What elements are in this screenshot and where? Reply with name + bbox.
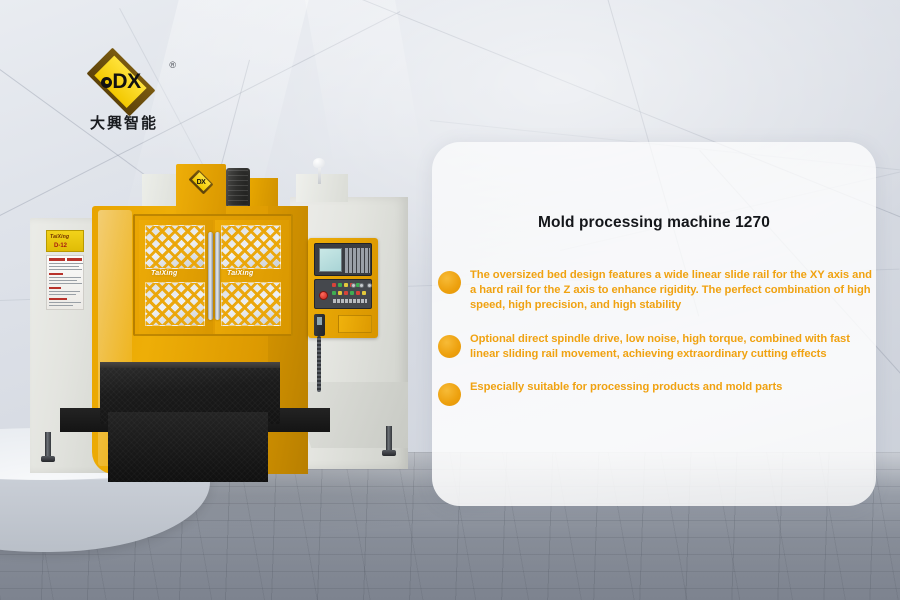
nameplate-model: D-12 bbox=[54, 243, 67, 249]
bullet-dot-icon bbox=[438, 335, 461, 358]
cnc-keypad bbox=[345, 248, 370, 273]
handheld-pendant bbox=[314, 314, 325, 336]
feature-text: The oversized bed design features a wide… bbox=[470, 268, 872, 314]
nameplate-brand: TaiXing bbox=[50, 234, 69, 240]
leveling-foot-right bbox=[386, 426, 392, 452]
tool-changer-drum bbox=[226, 168, 250, 208]
bullet-dot-icon bbox=[438, 383, 461, 406]
feature-list: The oversized bed design features a wide… bbox=[438, 268, 876, 424]
company-name-chinese: 大興智能 bbox=[72, 112, 176, 133]
machine-door-left: TaiXing bbox=[139, 220, 213, 334]
product-info-card: Mold processing machine 1270 The oversiz… bbox=[432, 142, 876, 506]
feature-item: The oversized bed design features a wide… bbox=[438, 268, 876, 314]
machine-logo-letters: DX bbox=[197, 179, 206, 186]
feature-text: Especially suitable for processing produ… bbox=[470, 380, 872, 406]
panel-access-door bbox=[338, 315, 372, 333]
cnc-control-panel bbox=[308, 238, 378, 338]
cnc-screen bbox=[319, 248, 342, 272]
door-handle-left bbox=[208, 232, 213, 320]
machine-instruction-label bbox=[46, 255, 84, 310]
dx-diamond-logo-icon: DX bbox=[78, 56, 164, 108]
logo-letters: DX bbox=[112, 70, 140, 94]
door-brand-right: TaiXing bbox=[227, 270, 253, 277]
emergency-stop-button bbox=[319, 291, 328, 300]
machine-doors: TaiXing TaiXing bbox=[133, 214, 293, 336]
registered-trademark-mark: ® bbox=[169, 60, 176, 70]
status-light-icon bbox=[313, 158, 325, 168]
company-logo: DX ® 大興智能 bbox=[72, 56, 176, 138]
cnc-machine-photo: DX TaiXing TaiXing bbox=[0, 150, 430, 480]
bullet-dot-icon bbox=[438, 271, 461, 294]
machine-dx-logo-icon: DX bbox=[186, 172, 216, 192]
feature-item: Optional direct spindle drive, low noise… bbox=[438, 332, 876, 362]
door-handle-right bbox=[215, 232, 220, 320]
gear-icon bbox=[101, 77, 112, 88]
machine-door-right: TaiXing bbox=[215, 220, 289, 334]
product-banner: DX ® 大興智能 DX bbox=[0, 0, 900, 600]
pendant-cord bbox=[317, 336, 321, 392]
product-title: Mold processing machine 1270 bbox=[432, 214, 876, 232]
machine-nameplate: TaiXing D-12 bbox=[46, 230, 84, 252]
operator-button-panel bbox=[314, 279, 372, 309]
chip-conveyor bbox=[108, 412, 268, 482]
feature-text: Optional direct spindle drive, low noise… bbox=[470, 332, 872, 362]
cnc-display-unit bbox=[314, 243, 372, 276]
feature-item: Especially suitable for processing produ… bbox=[438, 380, 876, 406]
leveling-foot-left bbox=[45, 432, 51, 458]
door-brand-left: TaiXing bbox=[151, 270, 177, 277]
